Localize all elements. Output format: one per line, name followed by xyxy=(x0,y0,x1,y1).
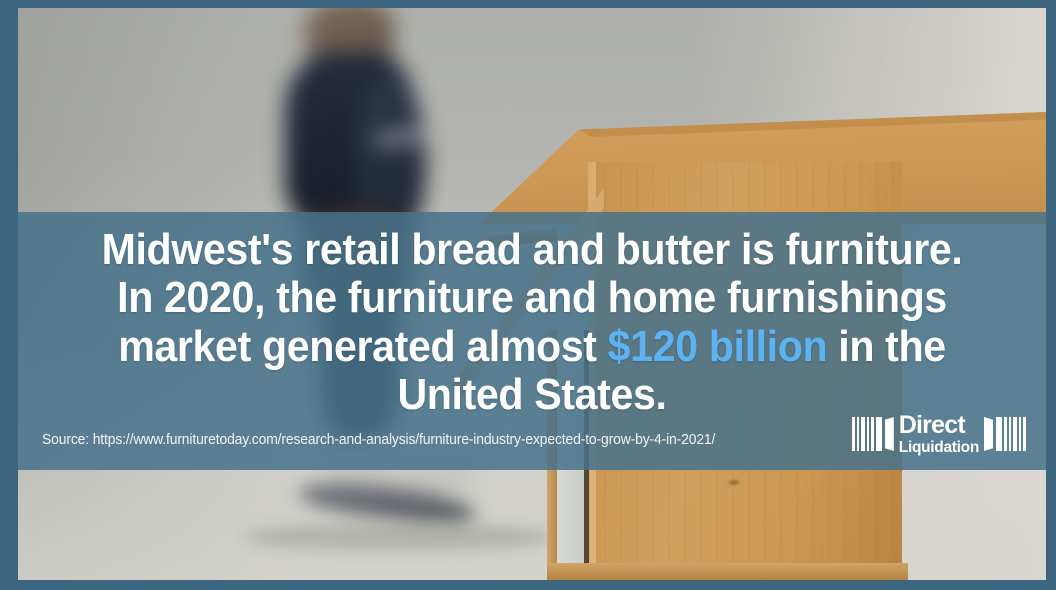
infographic-card: Midwest's retail bread and butter is fur… xyxy=(0,0,1056,590)
barcode-left-icon xyxy=(852,417,894,451)
logo-line-direct: Direct xyxy=(899,413,979,438)
direct-liquidation-logo[interactable]: Direct Liquidation xyxy=(852,411,1026,457)
logo-line-liquidation: Liquidation xyxy=(899,440,979,456)
text-overlay-band: Midwest's retail bread and butter is fur… xyxy=(18,212,1046,470)
headline-accent-value: $120 billion xyxy=(608,322,828,371)
wood-knot xyxy=(729,480,738,485)
headline-text: Midwest's retail bread and butter is fur… xyxy=(51,212,1012,420)
source-citation: Source: https://www.furnituretoday.com/r… xyxy=(42,432,715,448)
cabinet-base-rail xyxy=(547,563,908,580)
barcode-right-icon xyxy=(984,417,1026,451)
background-photo: Midwest's retail bread and butter is fur… xyxy=(18,8,1046,580)
logo-wordmark: Direct Liquidation xyxy=(894,413,984,456)
